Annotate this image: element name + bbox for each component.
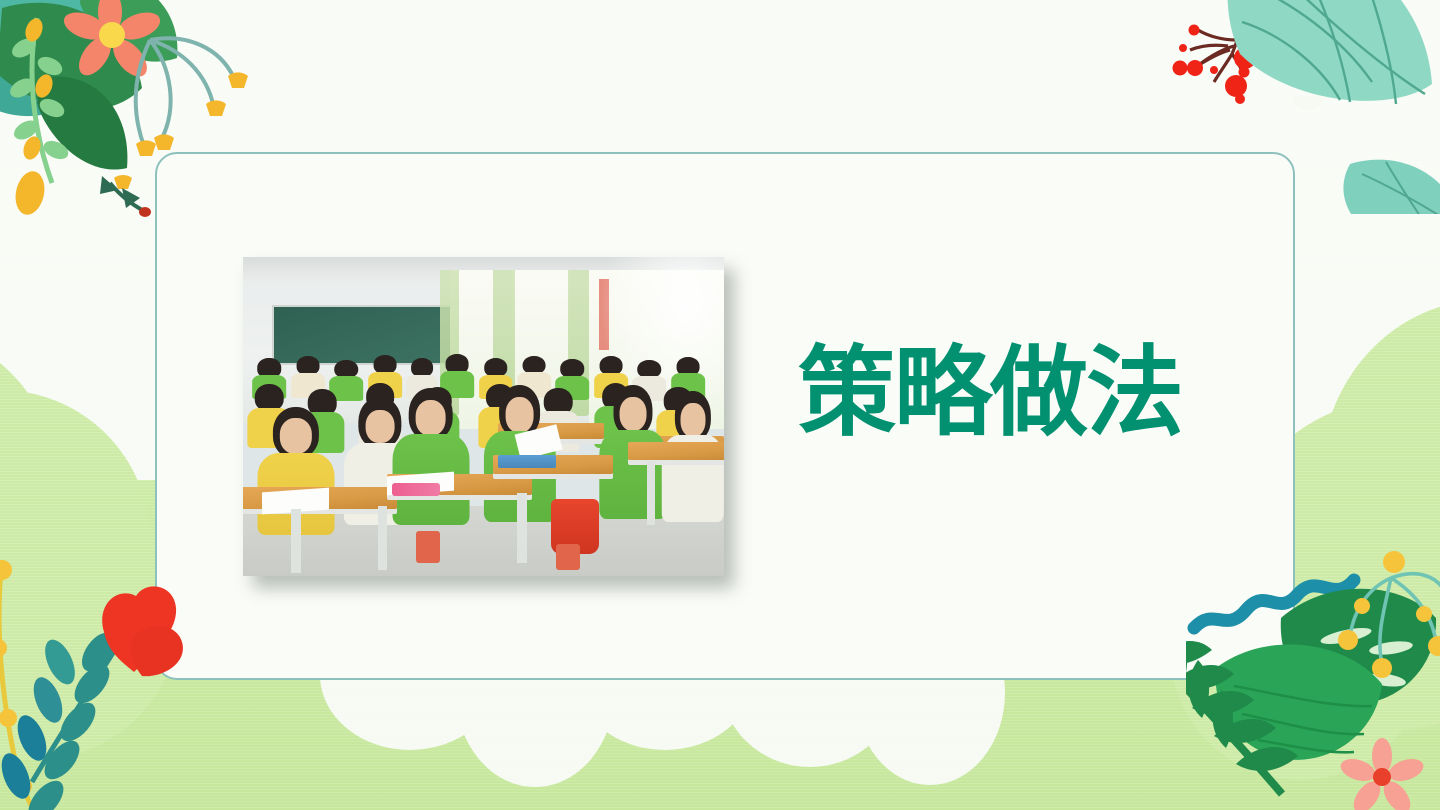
photo-desk-leg-3 (517, 493, 527, 563)
photo-desk-leg-4 (647, 461, 655, 525)
photo-books (498, 455, 556, 468)
presentation-slide: 策略做法 (0, 0, 1440, 810)
photo-pencilcase (392, 483, 440, 496)
classroom-photo[interactable] (243, 257, 724, 576)
photo-desk-leg-2 (378, 506, 388, 570)
photo-chair-2 (556, 544, 580, 570)
photo-chair-1 (416, 531, 440, 563)
photo-student-front-3 (392, 388, 469, 525)
photo-desk-leg-1 (291, 509, 301, 573)
photo-desk-front-4 (628, 442, 724, 460)
slide-title: 策略做法 (798, 344, 1182, 442)
